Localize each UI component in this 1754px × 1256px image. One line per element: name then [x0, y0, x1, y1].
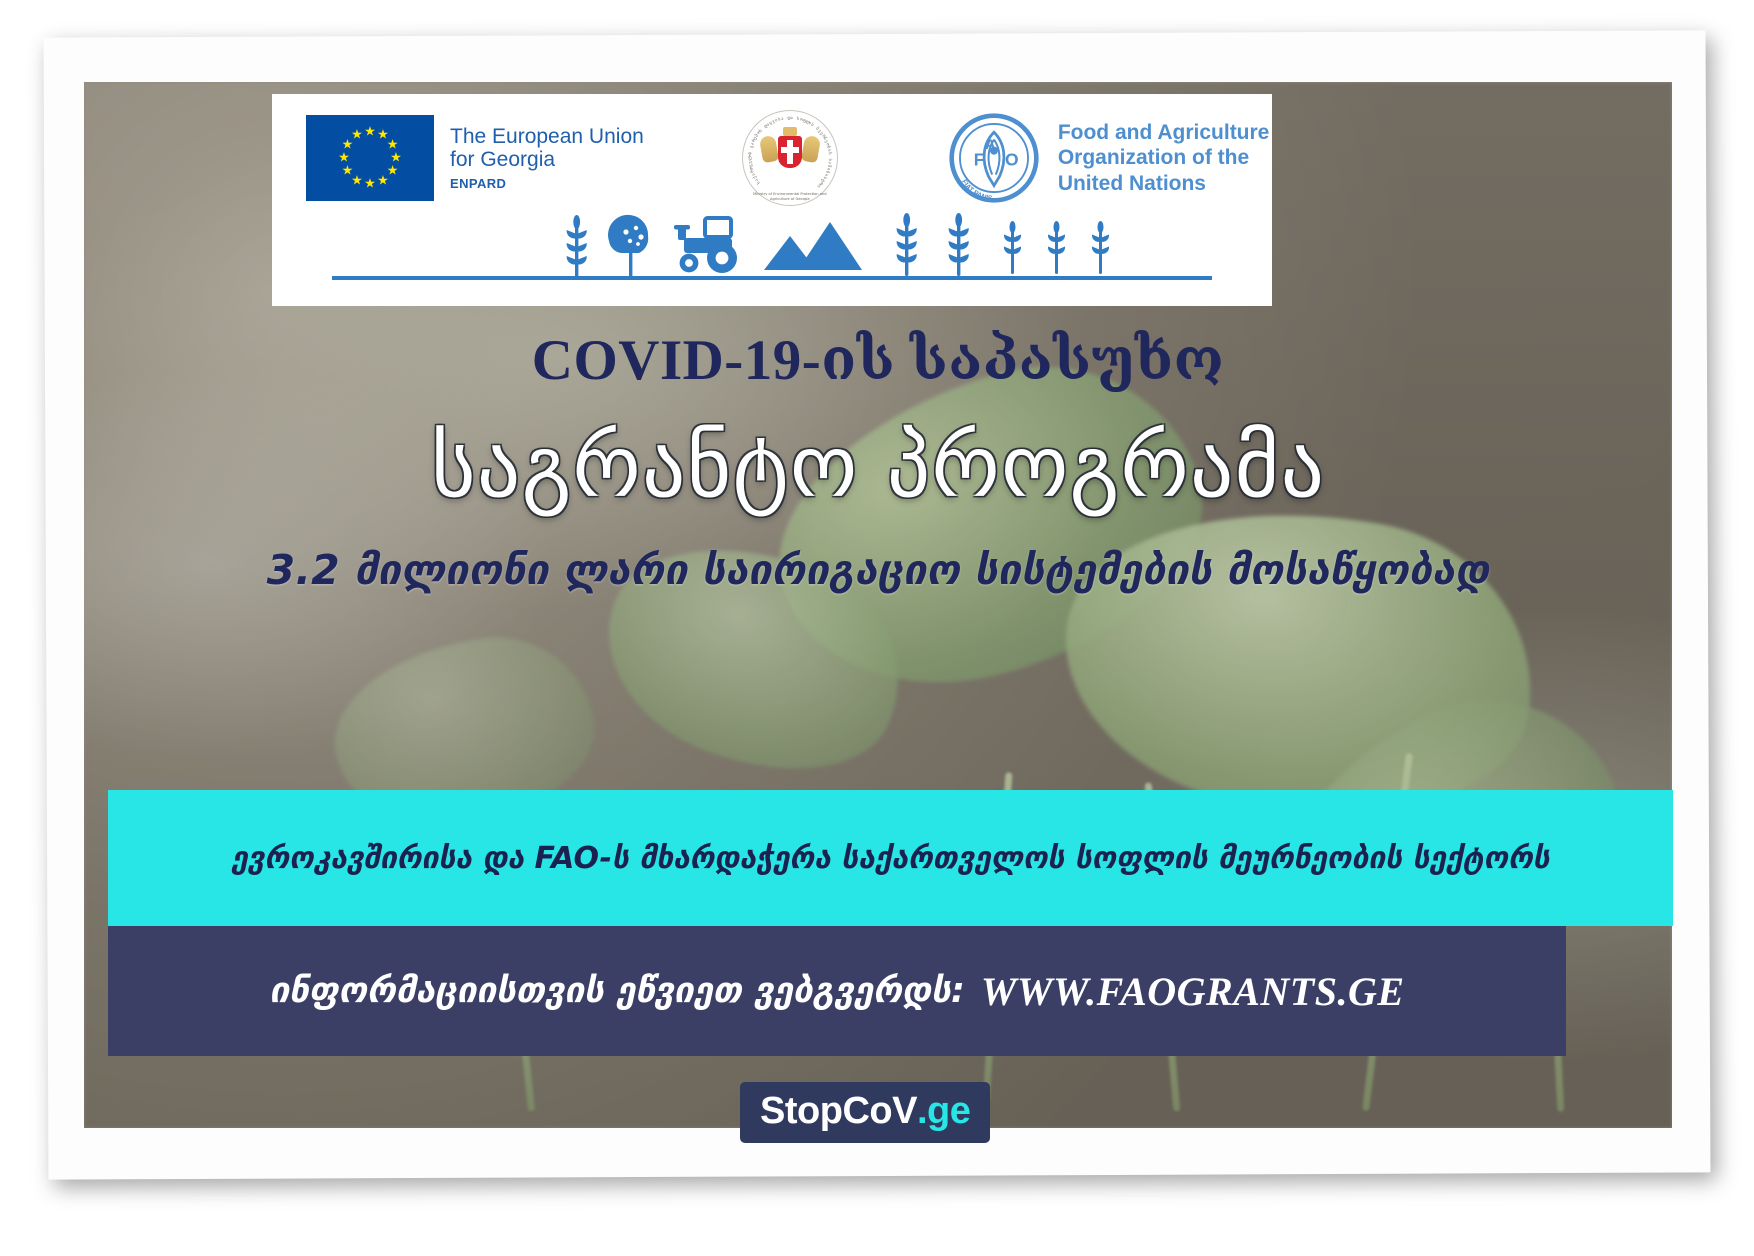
covid-response-title: COVID-19-ის საპასუხო [84, 330, 1672, 393]
website-url[interactable]: WWW.FAOGRANTS.GE [981, 968, 1405, 1015]
wheat-icon [567, 215, 587, 278]
emblem-caption: Ministry of Environmental Protection and… [753, 192, 827, 201]
eu-star-icon: ★ [351, 129, 363, 142]
svg-text:O: O [1005, 149, 1019, 169]
tree-icon [608, 215, 648, 278]
wheat-icon [1048, 221, 1065, 274]
fao-emblem-icon: F A O FIAT PANIS [948, 112, 1040, 204]
stopcov-cov: CoV [842, 1090, 917, 1133]
european-union-flag-icon: ★★★★★★★★★★★★ [306, 115, 434, 201]
tractor-icon [674, 218, 737, 273]
grant-amount-subtitle: 3.2 მილიონი ლარი საირიგაციო სისტემების მ… [84, 546, 1672, 595]
wheat-icon [897, 213, 917, 276]
stopcov-stop: Stop [760, 1090, 842, 1133]
mountain-icon [764, 222, 862, 270]
eu-star-icon: ★ [364, 126, 376, 139]
eu-star-icon: ★ [338, 152, 350, 165]
support-banner-text: ევროკავშირისა და FAO-ს მხარდაჭერა საქართ… [231, 841, 1549, 876]
european-union-logo: ★★★★★★★★★★★★ The European Union for Geor… [306, 115, 644, 201]
shield-icon [778, 136, 802, 168]
stopcov-tld: .ge [917, 1090, 970, 1133]
logo-row: ★★★★★★★★★★★★ The European Union for Geor… [272, 94, 1272, 212]
fao-logo: F A O FIAT PANIS Food and Agriculture Or… [948, 112, 1270, 204]
partner-logo-bar: ★★★★★★★★★★★★ The European Union for Geor… [272, 94, 1272, 306]
grant-program-title: საგრანტო პროგრამა [84, 421, 1672, 514]
svg-text:A: A [985, 137, 995, 152]
pictogram-baseline [332, 276, 1212, 280]
headline-area: COVID-19-ის საპასუხო საგრანტო პროგრამა 3… [84, 330, 1672, 595]
crown-icon [783, 127, 797, 136]
enpard-label: ENPARD [450, 177, 644, 192]
eu-star-icon: ★ [377, 174, 389, 187]
website-banner-text: ინფორმაციისთვის ეწვიეთ ვებგვერდს: [269, 971, 964, 1011]
eu-star-icon: ★ [364, 178, 376, 191]
fao-line-3: United Nations [1058, 171, 1270, 197]
stopcov-badge[interactable]: Stop CoV .ge [740, 1082, 990, 1143]
fao-line-2: Organization of the [1058, 145, 1270, 171]
fao-label: Food and Agriculture Organization of the… [1058, 120, 1270, 197]
wheat-icon [1092, 221, 1109, 274]
wheat-icon [1004, 221, 1021, 274]
eu-line-1: The European Union [450, 125, 644, 149]
support-banner: ევროკავშირისა და FAO-ს მხარდაჭერა საქართ… [108, 790, 1673, 926]
eu-star-icon: ★ [342, 165, 354, 178]
svg-text:F: F [974, 149, 985, 169]
european-union-label: The European Union for Georgia ENPARD [450, 125, 644, 192]
georgia-ministry-emblem: საქართველოს გარემოს დაცვისა და სოფლის მე… [742, 110, 838, 206]
agriculture-pictogram-strip [272, 212, 1272, 306]
wheat-icon [949, 213, 969, 276]
poster-root: ★★★★★★★★★★★★ The European Union for Geor… [0, 0, 1754, 1256]
website-banner: ინფორმაციისთვის ეწვიეთ ვებგვერდს: WWW.FA… [108, 926, 1566, 1056]
eu-line-2: for Georgia [450, 148, 644, 172]
fao-line-1: Food and Agriculture [1058, 120, 1270, 146]
